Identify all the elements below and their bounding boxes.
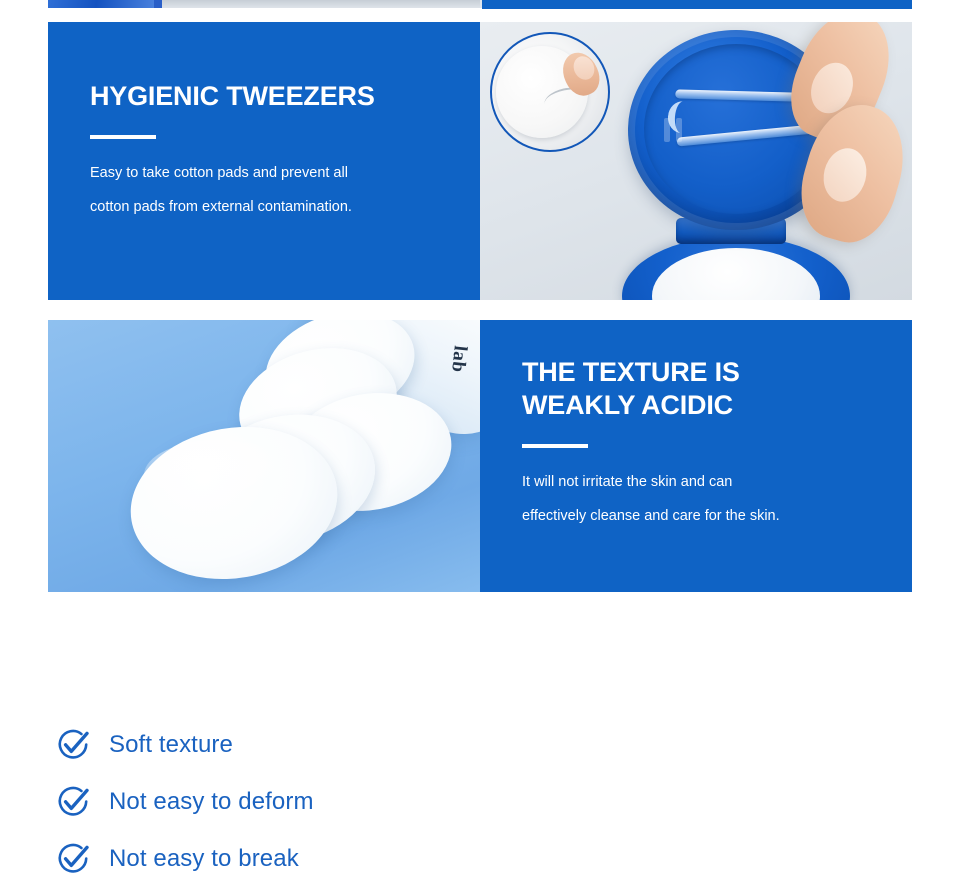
checklist-item: Not easy to break: [56, 830, 576, 887]
check-circle-icon: [56, 728, 90, 762]
title-divider: [522, 444, 588, 448]
checklist-item: Soft texture: [56, 716, 576, 773]
remnant-banner-edge: [154, 0, 162, 8]
checklist-label: Soft texture: [109, 731, 233, 759]
bottle-label-text: lab: [446, 344, 471, 373]
remnant-blue-banner-left: [48, 0, 156, 8]
feature-checklist: Soft texture Not easy to deform Not easy…: [56, 716, 576, 887]
check-circle-icon: [56, 785, 90, 819]
panel-text-hygienic-tweezers: HYGIENIC TWEEZERS Easy to take cotton pa…: [48, 22, 480, 300]
panel-inner: THE TEXTURE IS WEAKLY ACIDIC It will not…: [522, 356, 888, 533]
product-photo-cotton-pads: lab: [48, 320, 480, 592]
photo-tweezers-case: [480, 22, 912, 300]
checklist-item: Not easy to deform: [56, 773, 576, 830]
photo-cotton-pads: lab: [48, 320, 480, 592]
product-photo-tweezers: [480, 22, 912, 300]
panel-text-weakly-acidic: THE TEXTURE IS WEAKLY ACIDIC It will not…: [480, 320, 912, 592]
panel-title-weakly-acidic: THE TEXTURE IS WEAKLY ACIDIC: [522, 356, 888, 422]
panel-title-hygienic-tweezers: HYGIENIC TWEEZERS: [90, 80, 456, 113]
checklist-label: Not easy to break: [109, 845, 299, 873]
remnant-photo-strip: [162, 0, 480, 8]
tweezer-tip: [667, 100, 698, 134]
inset-cotton-pad-closeup: [490, 32, 610, 152]
section-separator: [48, 9, 912, 11]
checklist-label: Not easy to deform: [109, 788, 314, 816]
panel-body-hygienic-tweezers: Easy to take cotton pads and prevent all…: [90, 156, 456, 224]
remnant-blue-banner-right: [482, 0, 912, 9]
pad-highlight: [144, 440, 294, 510]
feature-row-weakly-acidic: lab THE TEXTURE IS WEAKLY ACIDIC It will…: [48, 320, 912, 592]
panel-inner: HYGIENIC TWEEZERS Easy to take cotton pa…: [90, 80, 456, 224]
previous-section-remnant: [0, 0, 960, 12]
panel-body-weakly-acidic: It will not irritate the skin and can ef…: [522, 465, 888, 533]
check-circle-icon: [56, 842, 90, 876]
title-divider: [90, 135, 156, 139]
hand-holding-tweezers: [772, 22, 912, 258]
feature-row-hygienic-tweezers: HYGIENIC TWEEZERS Easy to take cotton pa…: [48, 22, 912, 300]
